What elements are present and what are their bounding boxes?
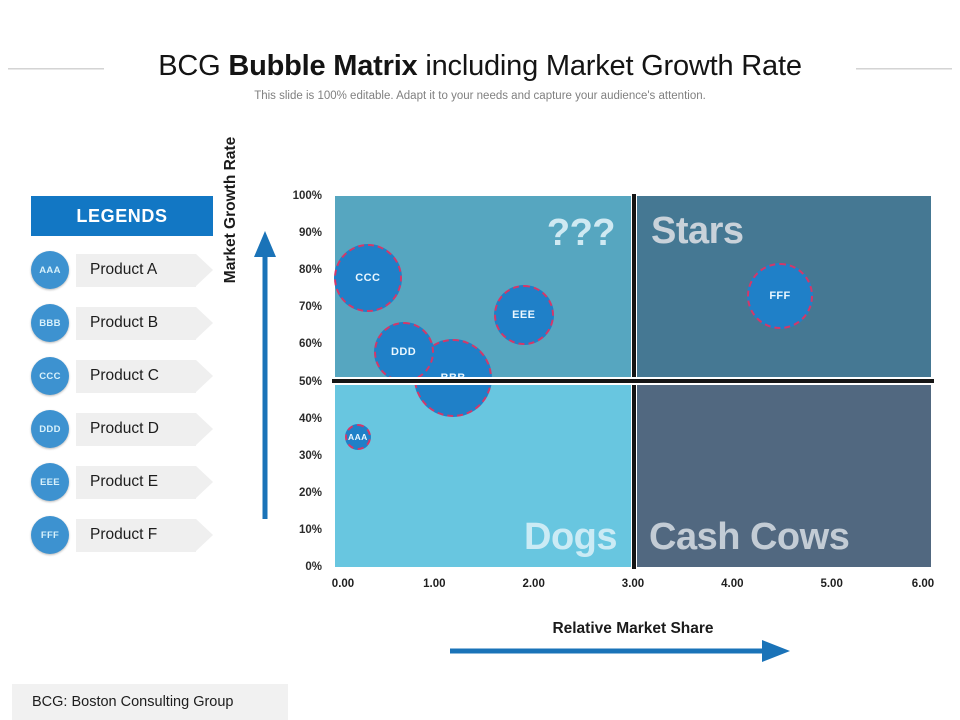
x-tick-3-00: 3.00 (622, 578, 644, 590)
legend-item-eee[interactable]: EEEProduct E (31, 463, 243, 501)
legend-badge-eee: EEE (31, 463, 69, 501)
x-tick-5-00: 5.00 (820, 578, 842, 590)
x-axis-arrow-icon (450, 640, 790, 662)
bubble-eee[interactable]: EEE (494, 285, 554, 345)
legend-badge-fff: FFF (31, 516, 69, 554)
bubble-label-bbb: BBB (441, 372, 466, 384)
legend-label-fff: Product F (76, 519, 196, 552)
legend-label-eee: Product E (76, 466, 196, 499)
quadrant-label-cash-cows: Cash Cows (649, 516, 849, 559)
bubble-label-fff: FFF (769, 290, 790, 302)
x-tick-0-00: 0.00 (332, 578, 354, 590)
quadrant-cash-cows: Cash Cows (637, 385, 931, 567)
y-tick-100pct: 100% (293, 190, 322, 202)
x-axis-title: Relative Market Share (335, 620, 931, 638)
legend-item-ddd[interactable]: DDDProduct D (31, 410, 243, 448)
page-title-suffix: including Market Growth Rate (418, 50, 802, 82)
page-title-prefix: BCG (158, 50, 228, 82)
bubble-ccc[interactable]: CCC (334, 244, 402, 312)
legend-badge-ccc: CCC (31, 357, 69, 395)
bubble-label-eee: EEE (512, 309, 535, 321)
y-tick-20pct: 20% (299, 487, 322, 499)
quadrant-dogs: Dogs (335, 385, 631, 567)
legend-badge-aaa: AAA (31, 251, 69, 289)
quadrant-label-question-marks: ??? (547, 212, 615, 255)
y-tick-30pct: 30% (299, 450, 322, 462)
bubble-label-ccc: CCC (355, 272, 380, 284)
legend-item-bbb[interactable]: BBBProduct B (31, 304, 243, 342)
legend-header: LEGENDS (31, 196, 213, 236)
y-tick-0pct: 0% (305, 561, 322, 573)
bubble-bbb[interactable]: BBB (414, 339, 492, 417)
quadrant-stars: Stars (637, 196, 931, 377)
page-subtitle: This slide is 100% editable. Adapt it to… (0, 90, 960, 102)
quadrant-label-dogs: Dogs (524, 516, 617, 559)
x-axis-tick-labels: 0.001.002.003.004.005.006.00 (335, 578, 931, 596)
y-tick-60pct: 60% (299, 338, 322, 350)
bubble-aaa[interactable]: AAA (345, 424, 371, 450)
legend-panel: LEGENDS AAAProduct ABBBProduct BCCCProdu… (31, 196, 243, 554)
y-axis-tick-labels: 0%10%20%30%40%50%60%70%80%90%100% (276, 188, 328, 568)
legend-badge-ddd: DDD (31, 410, 69, 448)
bubble-label-ddd: DDD (391, 346, 416, 358)
y-tick-10pct: 10% (299, 524, 322, 536)
footer-note: BCG: Boston Consulting Group (12, 684, 288, 720)
quadrant-divider-vertical (631, 194, 637, 569)
legend-label-aaa: Product A (76, 254, 196, 287)
page-title: BCG Bubble Matrix including Market Growt… (0, 46, 960, 86)
bubble-fff[interactable]: FFF (747, 263, 813, 329)
y-axis-arrow-icon (254, 229, 276, 519)
legend-item-aaa[interactable]: AAAProduct A (31, 251, 243, 289)
legend-item-ccc[interactable]: CCCProduct C (31, 357, 243, 395)
x-tick-4-00: 4.00 (721, 578, 743, 590)
y-tick-90pct: 90% (299, 227, 322, 239)
plot-area: ??? Stars Dogs Cash Cows AAABBBCCCDDDEEE… (335, 196, 931, 567)
legend-label-ccc: Product C (76, 360, 196, 393)
legend-rows: AAAProduct ABBBProduct BCCCProduct CDDDP… (31, 251, 243, 554)
y-tick-80pct: 80% (299, 264, 322, 276)
quadrant-question-marks: ??? (335, 196, 631, 377)
quadrant-divider-horizontal (332, 377, 934, 385)
y-tick-50pct: 50% (299, 376, 322, 388)
x-tick-6-00: 6.00 (912, 578, 934, 590)
x-tick-2-00: 2.00 (522, 578, 544, 590)
legend-label-bbb: Product B (76, 307, 196, 340)
x-tick-1-00: 1.00 (423, 578, 445, 590)
y-tick-70pct: 70% (299, 301, 322, 313)
legend-badge-bbb: BBB (31, 304, 69, 342)
page-title-bold: Bubble Matrix (228, 50, 417, 82)
legend-item-fff[interactable]: FFFProduct F (31, 516, 243, 554)
bubble-ddd[interactable]: DDD (374, 322, 434, 382)
title-block: BCG Bubble Matrix including Market Growt… (0, 46, 960, 92)
quadrant-label-stars: Stars (651, 210, 744, 253)
bubble-label-aaa: AAA (348, 432, 368, 442)
legend-label-ddd: Product D (76, 413, 196, 446)
y-tick-40pct: 40% (299, 413, 322, 425)
